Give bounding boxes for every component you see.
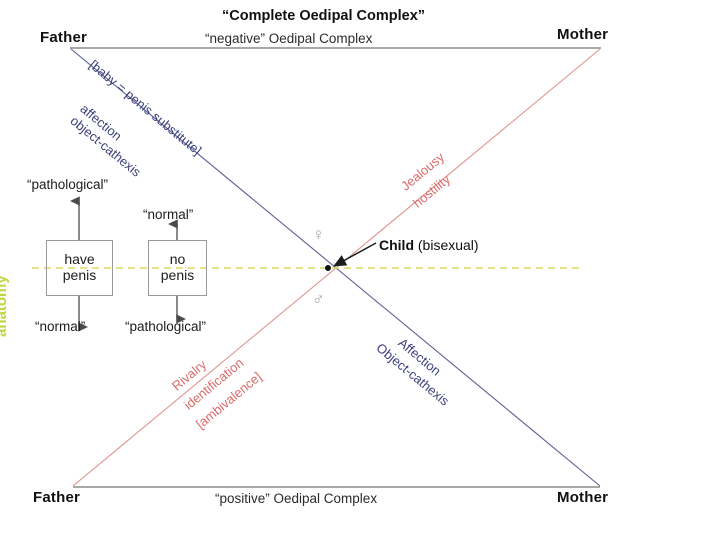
have-penis-box-line2: penis xyxy=(63,268,96,284)
corner-bottom-right-mother: Mother xyxy=(557,489,608,506)
no-penis-box-line2: penis xyxy=(161,268,194,284)
female-symbol-icon: ♀ xyxy=(312,225,325,245)
left-box-below-label: “normal” xyxy=(35,319,85,334)
right-box-above-label: “normal” xyxy=(143,207,193,222)
have-penis-box: have penis xyxy=(46,240,113,296)
child-pointer-arrow xyxy=(334,243,376,266)
child-label-rest: (bisexual) xyxy=(414,237,479,253)
page-title: “Complete Oedipal Complex” xyxy=(222,8,425,24)
no-penis-box: no penis xyxy=(148,240,207,296)
top-caption: “negative” Oedipal Complex xyxy=(205,31,372,46)
child-label-bold: Child xyxy=(379,237,414,253)
child-label: Child (bisexual) xyxy=(379,237,479,253)
bottom-caption: “positive” Oedipal Complex xyxy=(215,491,377,506)
corner-top-right-mother: Mother xyxy=(557,26,608,43)
have-penis-box-line1: have xyxy=(64,252,94,268)
diagram-canvas: “Complete Oedipal Complex” “negative” Oe… xyxy=(0,0,720,539)
male-symbol-icon: ♂ xyxy=(312,290,325,310)
right-box-below-label: “pathological” xyxy=(125,319,206,334)
no-penis-box-line1: no xyxy=(170,252,186,268)
left-box-above-label: “pathological” xyxy=(27,177,108,192)
anatomy-axis-label: anatomy xyxy=(0,275,10,337)
center-node-dot xyxy=(325,265,331,271)
corner-top-left-father: Father xyxy=(40,29,87,46)
corner-bottom-left-father: Father xyxy=(33,489,80,506)
